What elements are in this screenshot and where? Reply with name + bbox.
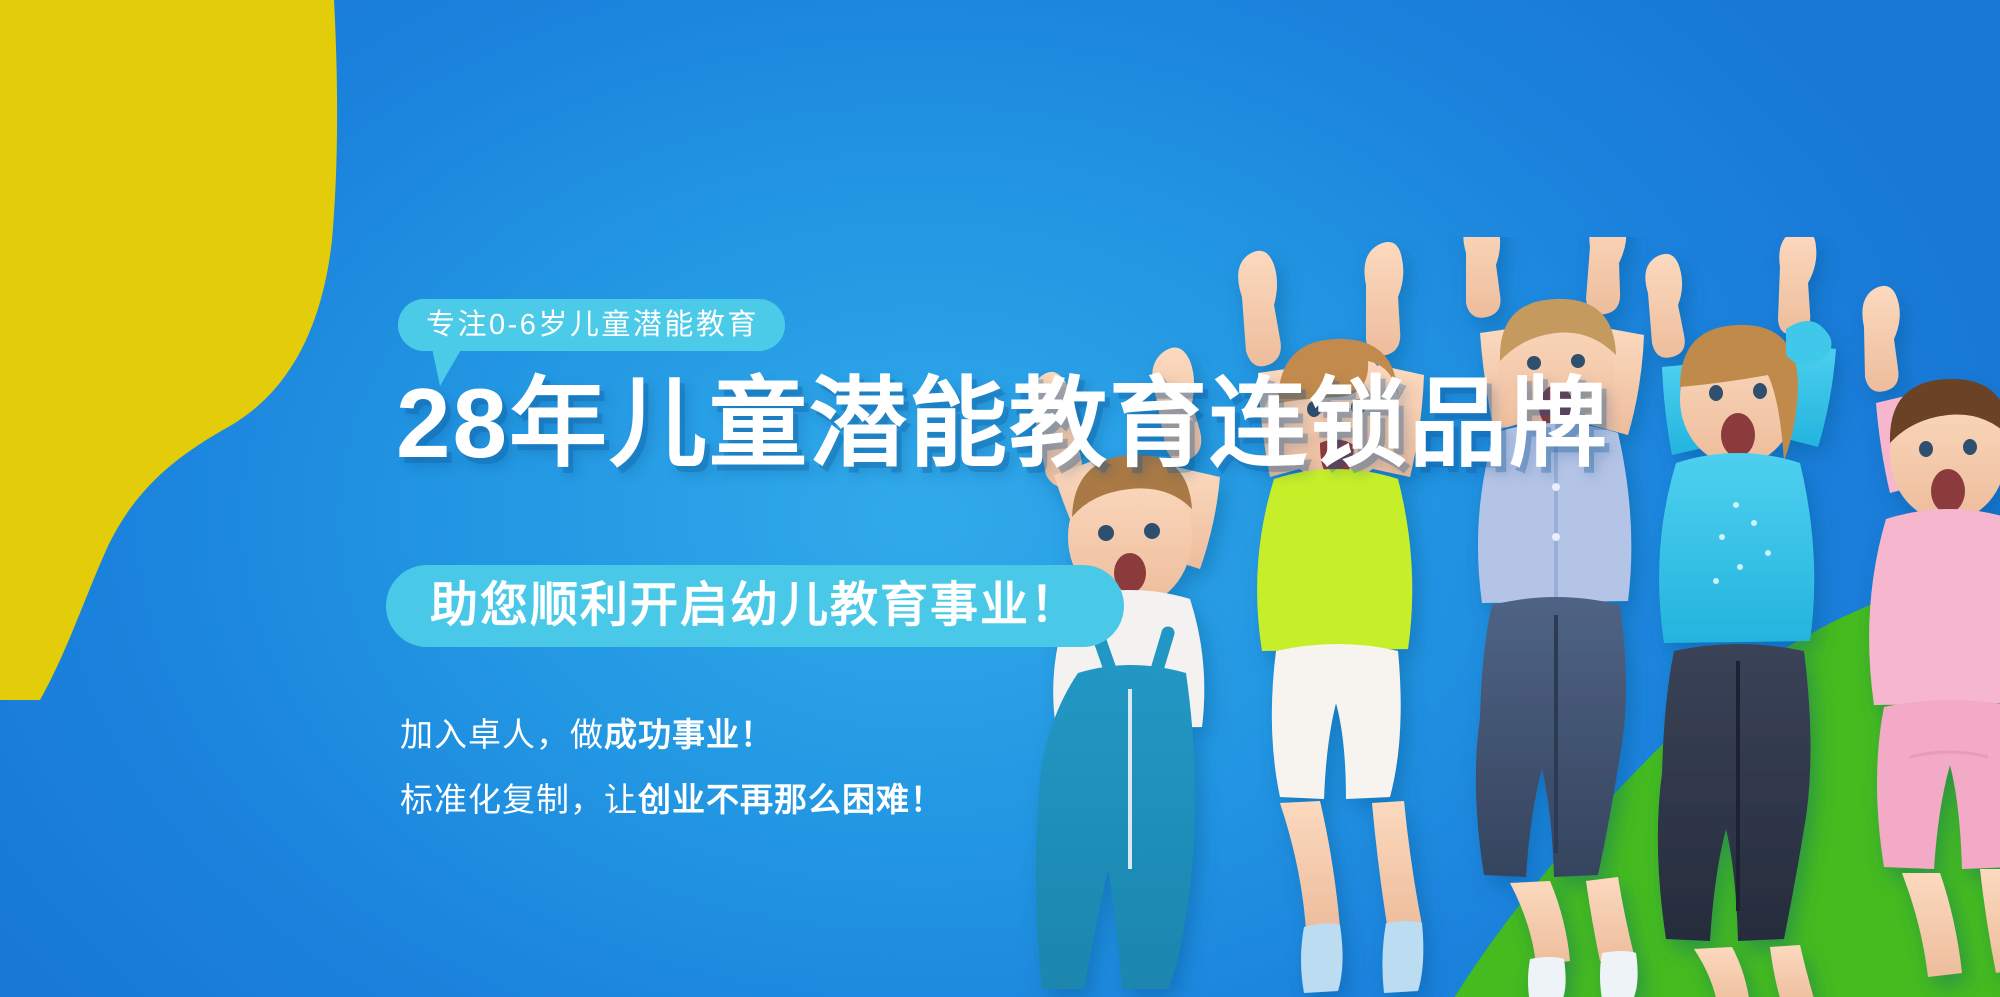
body-line-1-strong: 成功事业！: [604, 716, 774, 753]
child-boy-blueshirt: [1463, 237, 1644, 997]
body-line-1: 加入卓人，做成功事业！: [400, 718, 944, 751]
tagline-pill: 专注0-6岁儿童潜能教育: [398, 299, 785, 351]
headline-title: 28年儿童潜能教育连锁品牌: [396, 372, 1609, 476]
tagline-text: 专注0-6岁儿童潜能教育: [426, 311, 759, 340]
body-line-2: 标准化复制，让创业不再那么困难！: [400, 783, 944, 816]
subtitle-pill: 助您顺利开启幼儿教育事业！: [386, 565, 1124, 647]
body-copy: 加入卓人，做成功事业！ 标准化复制，让创业不再那么困难！: [400, 718, 944, 816]
body-line-2-plain: 标准化复制，让: [400, 781, 638, 818]
yellow-blob-shape: [0, 0, 337, 700]
child-girl-pink: [1862, 286, 2000, 977]
subtitle-text: 助您顺利开启幼儿教育事业！: [430, 582, 1080, 630]
tagline-badge: 专注0-6岁儿童潜能教育: [398, 299, 785, 351]
child-girl-cyan: [1645, 237, 1836, 997]
child-girl-lime: [1238, 242, 1424, 993]
promo-banner: 专注0-6岁儿童潜能教育 28年儿童潜能教育连锁品牌 助您顺利开启幼儿教育事业！…: [0, 0, 2000, 997]
children-photo: [980, 237, 2000, 997]
body-line-2-strong: 创业不再那么困难！: [638, 781, 944, 818]
body-line-1-plain: 加入卓人，做: [400, 716, 604, 753]
